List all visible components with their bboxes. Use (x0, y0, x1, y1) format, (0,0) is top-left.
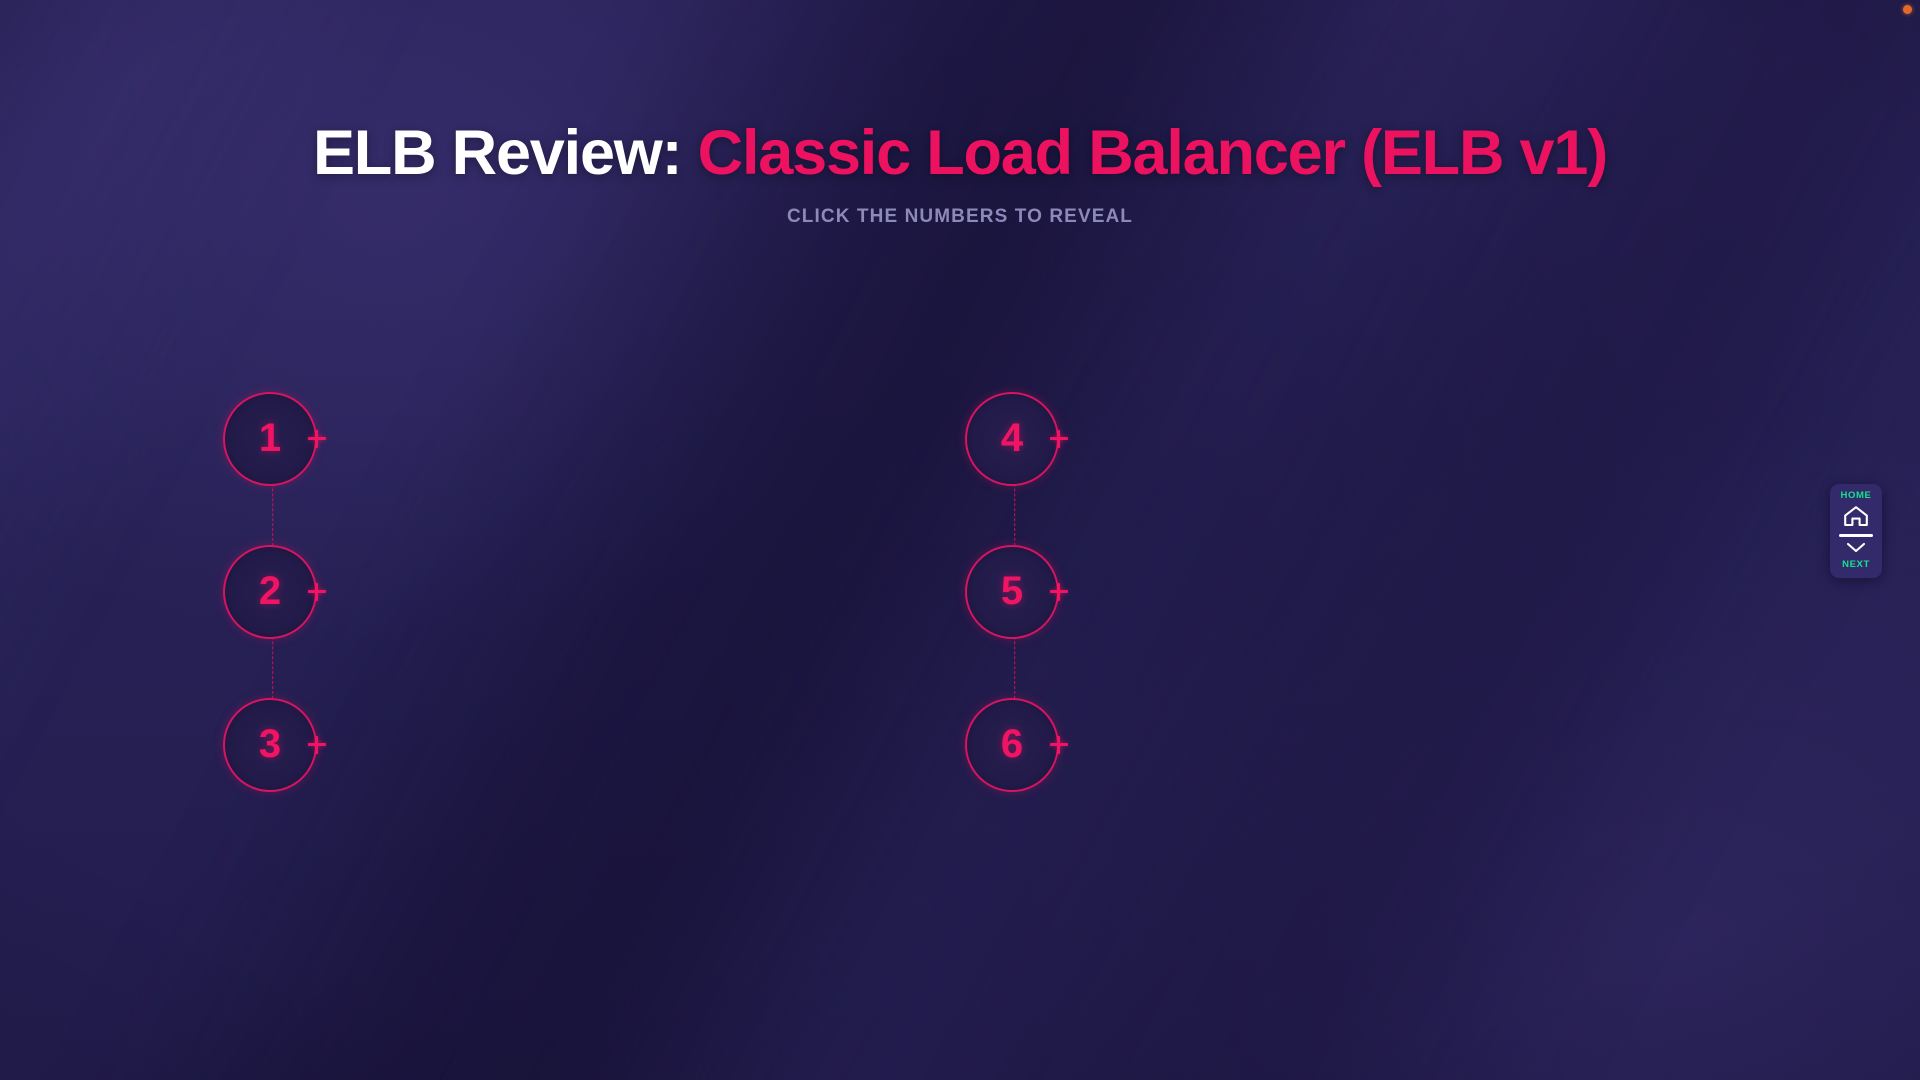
step-plus-icon-4[interactable] (1050, 430, 1068, 448)
nav-next-label: NEXT (1842, 560, 1870, 570)
header: ELB Review: Classic Load Balancer (ELB v… (0, 0, 1920, 228)
page-title-plain: ELB Review: (313, 118, 698, 188)
nav-home-button[interactable]: HOME (1841, 491, 1872, 527)
step-circle-2[interactable]: 2 (223, 545, 317, 639)
step-plus-icon-3[interactable] (308, 736, 326, 754)
step-plus-icon-1[interactable] (308, 430, 326, 448)
step-node-2[interactable]: 2 (198, 543, 348, 641)
nav-divider (1839, 534, 1873, 537)
step-number-2: 2 (259, 571, 281, 611)
step-circle-4[interactable]: 4 (965, 392, 1059, 486)
step-circle-1[interactable]: 1 (223, 392, 317, 486)
page-title: ELB Review: Classic Load Balancer (ELB v… (0, 120, 1920, 186)
step-circle-3[interactable]: 3 (223, 698, 317, 792)
side-navigation: HOME NEXT (1830, 484, 1882, 578)
step-node-6[interactable]: 6 (940, 696, 1090, 794)
step-circle-6[interactable]: 6 (965, 698, 1059, 792)
step-plus-icon-6[interactable] (1050, 736, 1068, 754)
step-number-5: 5 (1001, 571, 1023, 611)
chevron-down-icon[interactable] (1846, 542, 1866, 553)
nav-home-label: HOME (1841, 491, 1872, 501)
step-number-6: 6 (1001, 724, 1023, 764)
step-node-5[interactable]: 5 (940, 543, 1090, 641)
step-number-3: 3 (259, 724, 281, 764)
step-number-1: 1 (259, 418, 281, 458)
step-plus-icon-2[interactable] (308, 583, 326, 601)
page-subtitle: CLICK THE NUMBERS TO REVEAL (0, 206, 1920, 228)
nav-next-button[interactable]: NEXT (1842, 560, 1870, 570)
page-title-accent: Classic Load Balancer (ELB v1) (698, 118, 1607, 188)
step-node-1[interactable]: 1 (198, 390, 348, 488)
step-node-3[interactable]: 3 (198, 696, 348, 794)
step-plus-icon-5[interactable] (1050, 583, 1068, 601)
home-icon (1843, 505, 1869, 527)
step-number-4: 4 (1001, 418, 1023, 458)
step-circle-5[interactable]: 5 (965, 545, 1059, 639)
step-node-4[interactable]: 4 (940, 390, 1090, 488)
